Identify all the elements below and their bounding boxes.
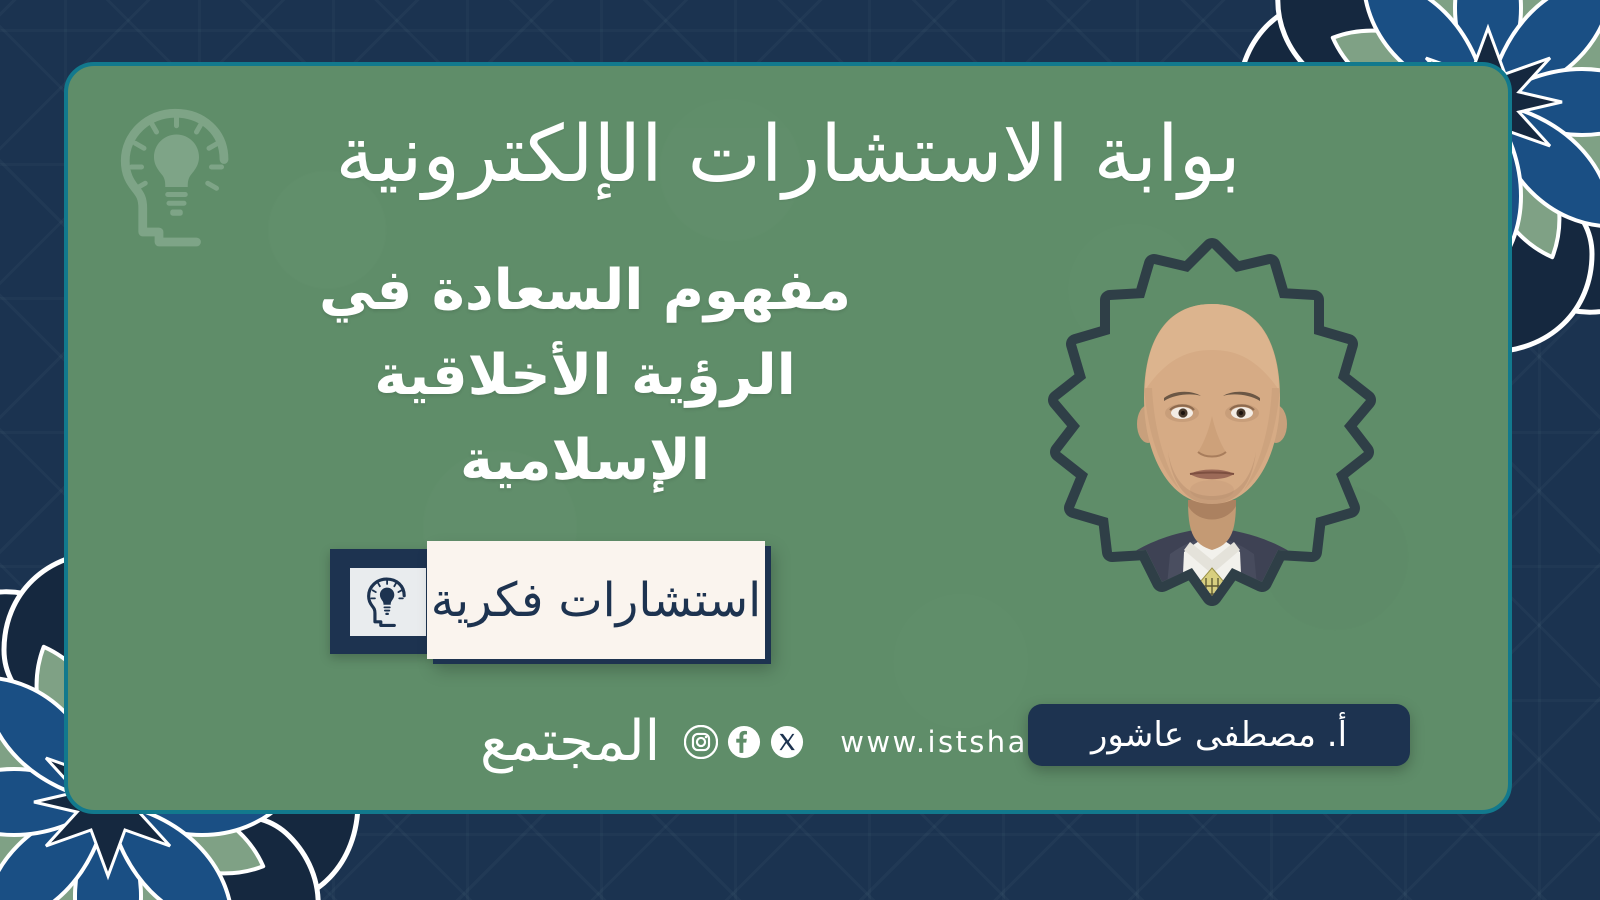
plaque-calligraphy-card: استشارات فكرية [427,541,765,659]
head-lightbulb-watermark-icon [104,102,254,252]
x-twitter-icon[interactable] [770,725,804,759]
instagram-icon[interactable] [684,725,718,759]
speaker-portrait-frame [1012,238,1412,638]
speaker-block: أ. مصطفى عاشور [1012,238,1412,778]
mujtama-logo: المجتمع [480,714,660,770]
plaque-calligraphy-text: استشارات فكرية [431,573,761,628]
facebook-icon[interactable] [727,725,761,759]
social-icons-group [684,725,804,759]
speaker-name-badge: أ. مصطفى عاشور [1028,704,1410,766]
plaque-icon-box [350,568,426,636]
speaker-photo [1012,238,1412,638]
portal-calligraphy-banner: بوابة الاستشارات الإلكترونية [408,80,1168,230]
brand-plaque: استشارات فكرية [330,541,770,661]
slide-canvas: بوابة الاستشارات الإلكترونية مفهوم السعا… [0,0,1600,900]
head-lightbulb-icon [361,575,415,629]
speaker-name-text: أ. مصطفى عاشور [1091,715,1347,755]
main-green-card: بوابة الاستشارات الإلكترونية مفهوم السعا… [64,62,1512,814]
portal-calligraphy-text: بوابة الاستشارات الإلكترونية [408,80,1168,230]
lecture-title: مفهوم السعادة في الرؤية الأخلاقية الإسلا… [240,248,930,503]
